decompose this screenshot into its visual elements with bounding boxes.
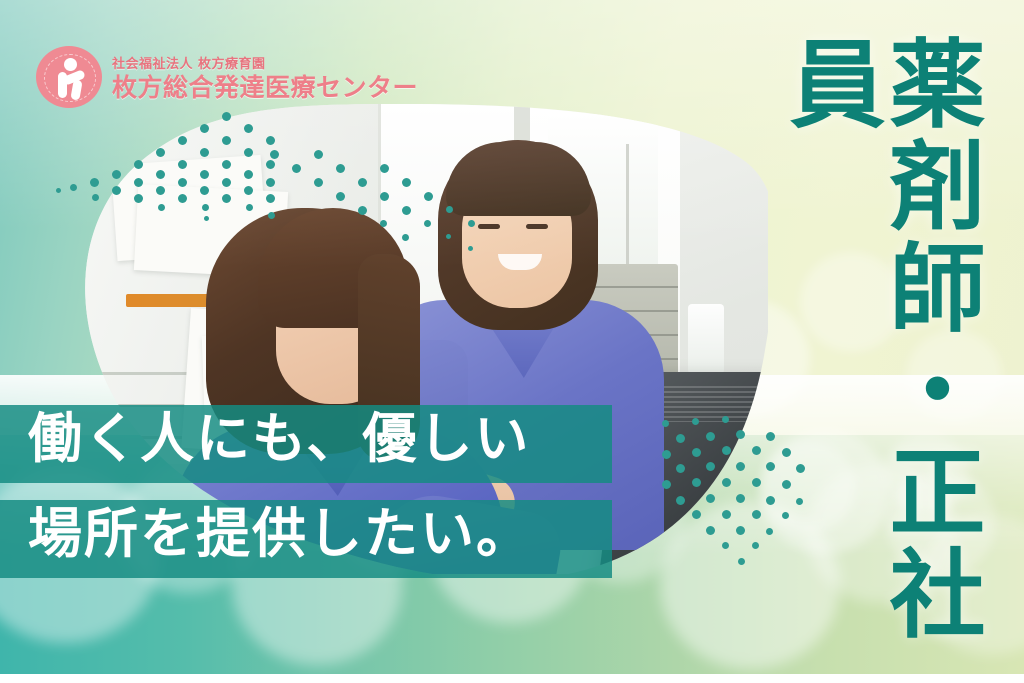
halftone-dots-left-icon (62, 112, 282, 222)
headline-line-1: 働く人にも、優しい (28, 412, 530, 466)
logo-name: 枚方総合発達医療センター (112, 74, 418, 102)
headline-line-2: 場所を提供したい。 (28, 507, 532, 561)
person-figure-icon (36, 46, 102, 108)
recruitment-banner: 働く人にも、優しい 場所を提供したい。 薬剤師・正社員 社会福祉法人 枚方療育園… (0, 0, 1024, 683)
job-title-vertical: 薬剤師・正社員 (846, 34, 978, 683)
halftone-dots-left-lower-icon (270, 150, 530, 260)
halftone-dots-right-icon (662, 416, 822, 576)
logo-subtitle: 社会福祉法人 枚方療育園 (112, 53, 418, 72)
organization-logo: 社会福祉法人 枚方療育園 枚方総合発達医療センター (36, 46, 418, 108)
bottom-white-strip (0, 674, 1024, 683)
